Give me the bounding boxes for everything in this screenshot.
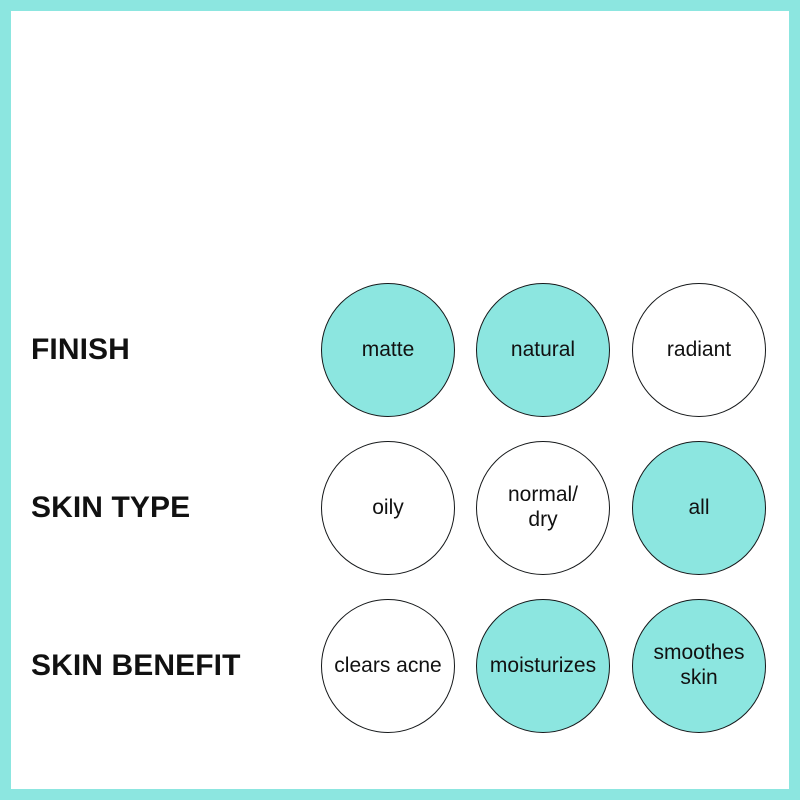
attribute-row-skin-type: SKIN TYPE oily normal/ dry all bbox=[11, 428, 789, 588]
row-label-skin-type: SKIN TYPE bbox=[31, 428, 321, 588]
option-bubble-smoothes-skin[interactable]: smoothes skin bbox=[632, 599, 766, 733]
option-cell-clears-acne[interactable]: clears acne bbox=[321, 599, 455, 733]
row-label-skin-benefit: SKIN BENEFIT bbox=[31, 586, 321, 746]
option-bubble-normal-dry[interactable]: normal/ dry bbox=[476, 441, 610, 575]
option-cell-oily[interactable]: oily bbox=[321, 441, 455, 575]
option-cell-moisturizes[interactable]: moisturizes bbox=[476, 599, 610, 733]
option-label-normal-dry: normal/ dry bbox=[477, 483, 609, 533]
option-bubble-moisturizes[interactable]: moisturizes bbox=[476, 599, 610, 733]
page-canvas: FINISH matte natural radiant SKIN TYPE bbox=[11, 11, 789, 789]
option-label-smoothes-skin: smoothes skin bbox=[633, 641, 765, 691]
option-label-moisturizes: moisturizes bbox=[477, 654, 609, 679]
option-cell-normal-dry[interactable]: normal/ dry bbox=[476, 441, 610, 575]
option-bubble-radiant[interactable]: radiant bbox=[632, 283, 766, 417]
attribute-row-finish: FINISH matte natural radiant bbox=[11, 270, 789, 430]
option-cell-natural[interactable]: natural bbox=[476, 283, 610, 417]
option-bubble-oily[interactable]: oily bbox=[321, 441, 455, 575]
attribute-matrix: FINISH matte natural radiant SKIN TYPE bbox=[11, 11, 789, 789]
option-bubble-natural[interactable]: natural bbox=[476, 283, 610, 417]
option-bubble-matte[interactable]: matte bbox=[321, 283, 455, 417]
option-label-natural: natural bbox=[477, 338, 609, 363]
row-label-finish: FINISH bbox=[31, 270, 321, 430]
attribute-row-skin-benefit: SKIN BENEFIT clears acne moisturizes smo… bbox=[11, 586, 789, 746]
option-cell-matte[interactable]: matte bbox=[321, 283, 455, 417]
option-cell-smoothes-skin[interactable]: smoothes skin bbox=[632, 599, 766, 733]
option-bubble-all[interactable]: all bbox=[632, 441, 766, 575]
option-label-all: all bbox=[633, 496, 765, 521]
option-label-oily: oily bbox=[322, 496, 454, 521]
option-label-radiant: radiant bbox=[633, 338, 765, 363]
option-cell-radiant[interactable]: radiant bbox=[632, 283, 766, 417]
option-bubble-clears-acne[interactable]: clears acne bbox=[321, 599, 455, 733]
option-label-clears-acne: clears acne bbox=[322, 654, 454, 679]
option-cell-all[interactable]: all bbox=[632, 441, 766, 575]
option-label-matte: matte bbox=[322, 338, 454, 363]
